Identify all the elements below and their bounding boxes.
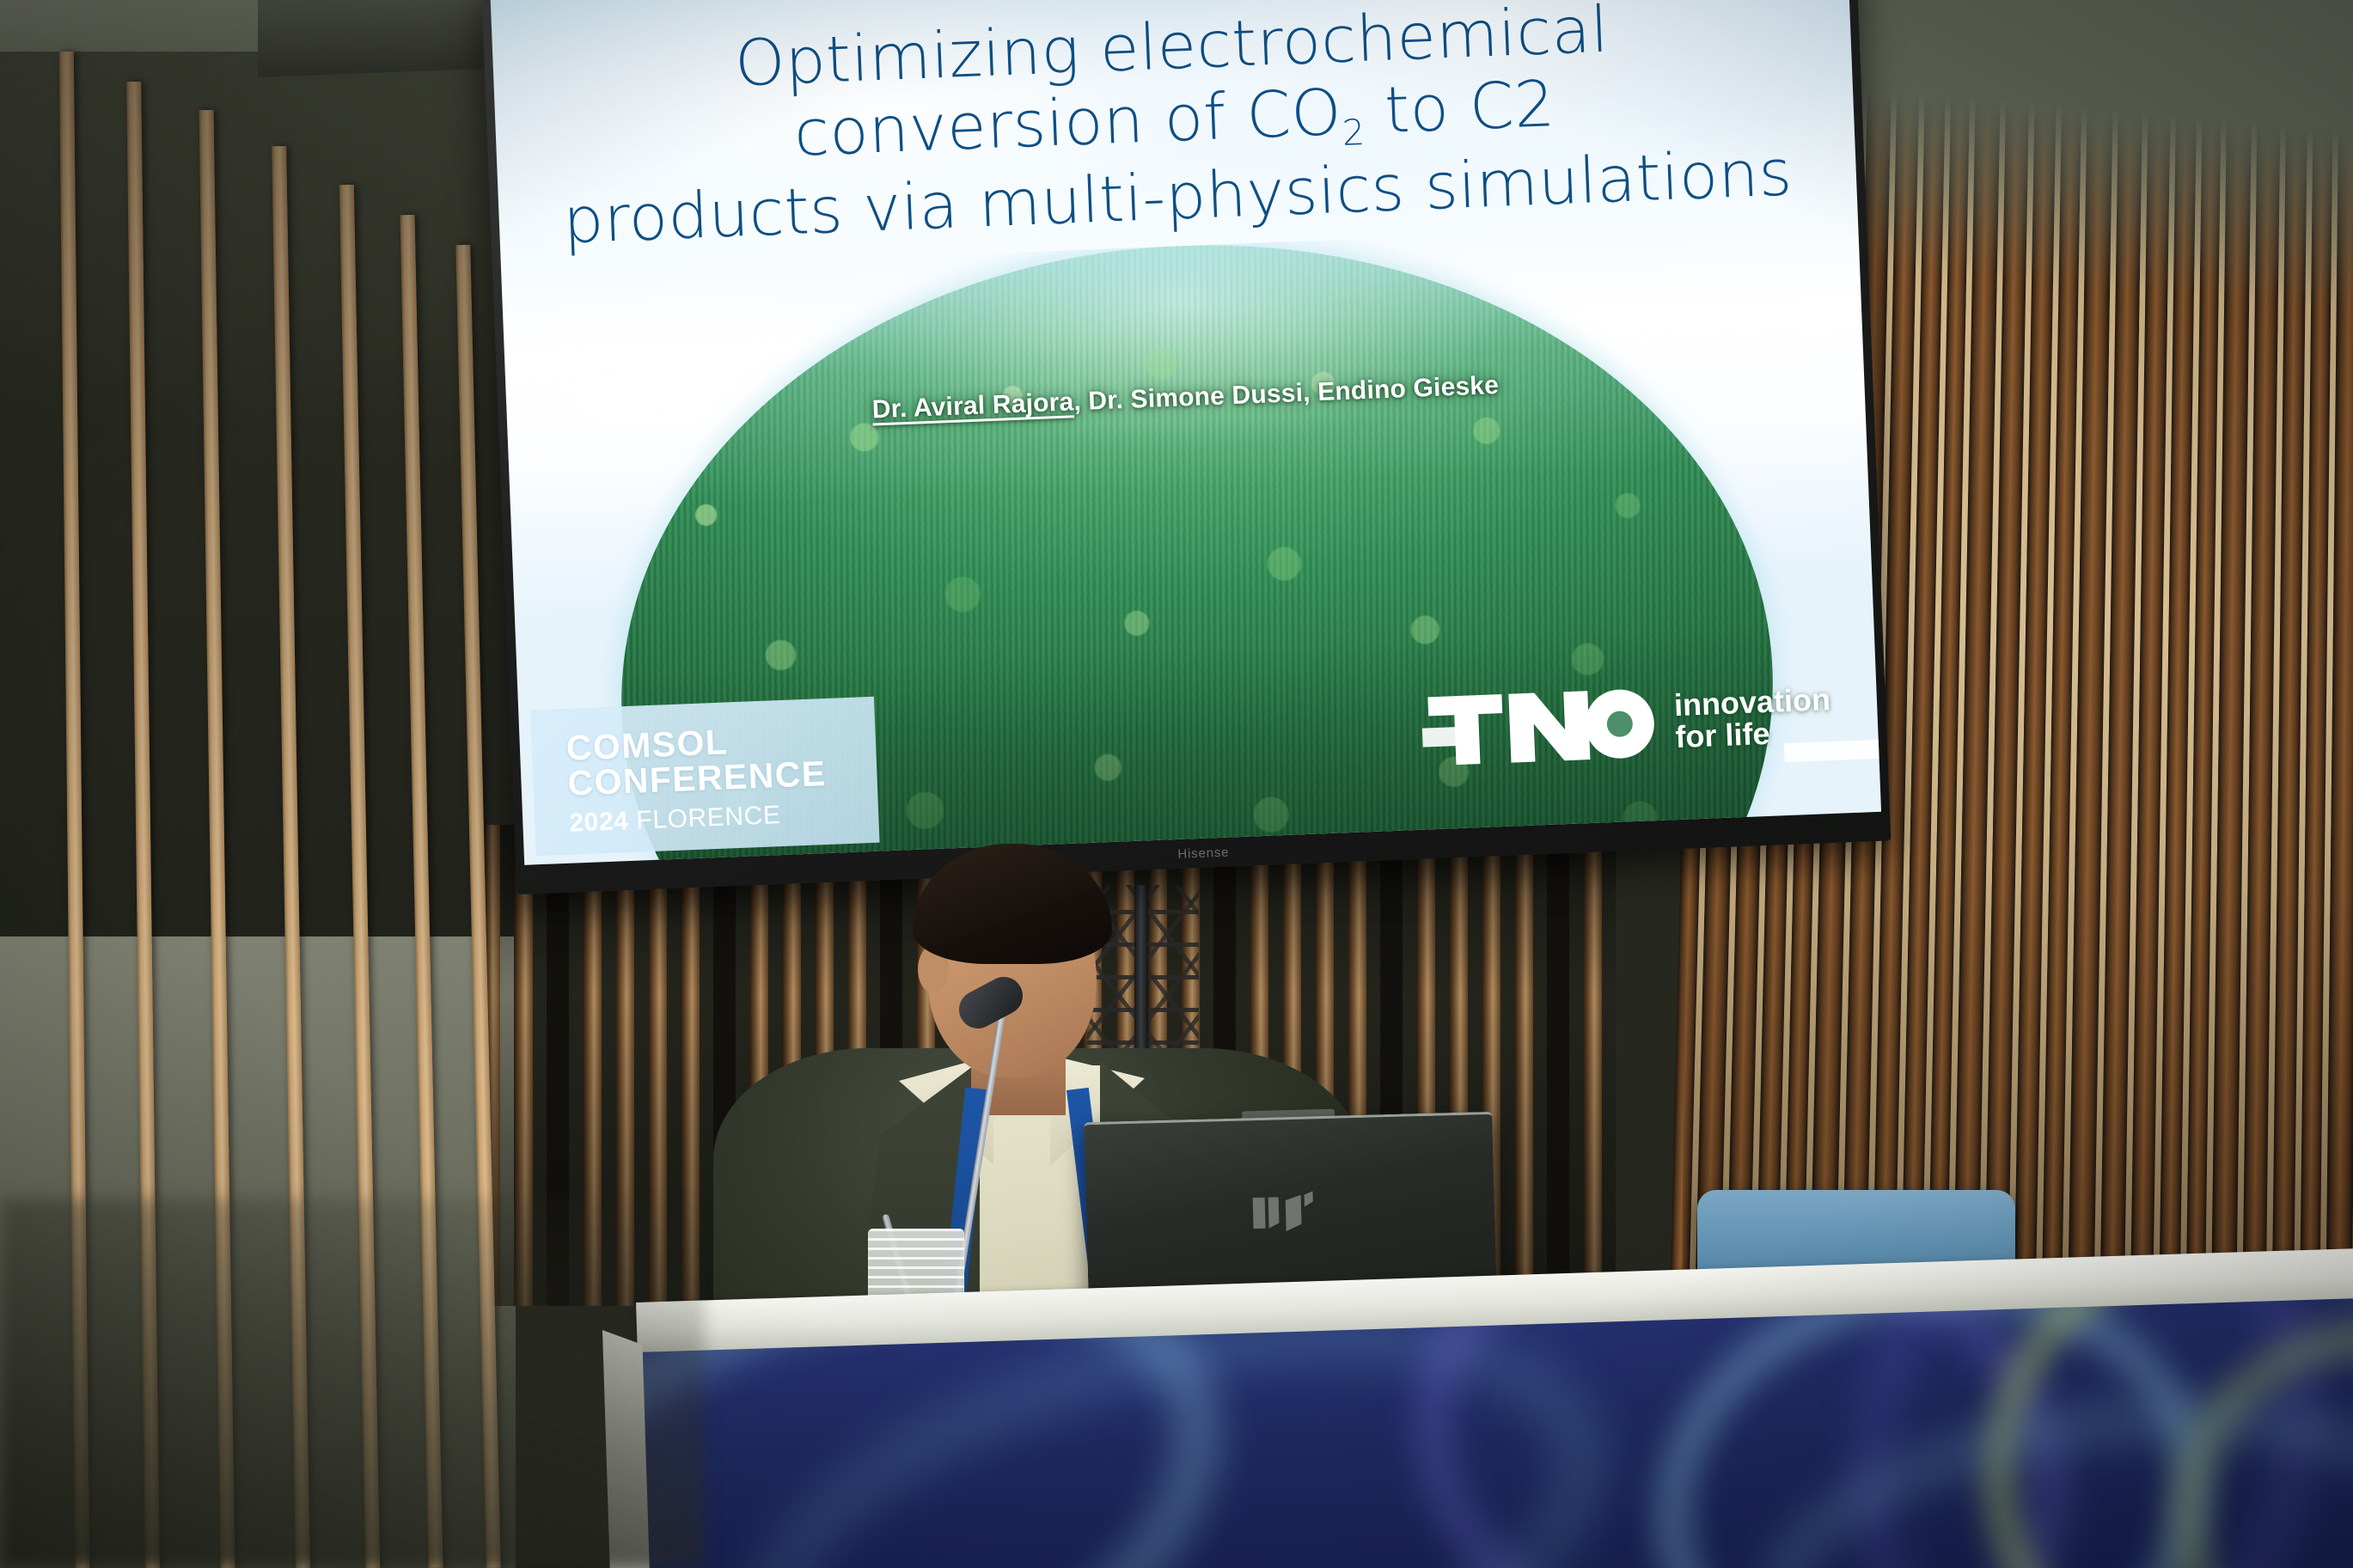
wood-slat — [583, 825, 602, 1306]
conference-year: 2024 — [569, 807, 629, 838]
wall-mounted-television[interactable]: Optimizing electrochemical conversion of… — [481, 0, 1891, 894]
wood-slat — [339, 185, 380, 1568]
comsol-conference-logo: COMSOL CONFERENCE 2024 FLORENCE — [530, 697, 879, 857]
wood-slat — [272, 146, 310, 1568]
tv-bezel: Optimizing electrochemical conversion of… — [481, 0, 1891, 894]
slide-title-subscript: 2 — [1342, 112, 1366, 154]
conference-room-scene: Optimizing electrochemical conversion of… — [0, 0, 2353, 1568]
wood-slat — [648, 825, 667, 1306]
wood-slat — [455, 245, 500, 1568]
presentation-slide: Optimizing electrochemical conversion of… — [490, 0, 1881, 865]
wood-slat — [59, 52, 89, 1568]
tno-logo: innovation for life — [1422, 674, 1832, 773]
conference-city: FLORENCE — [636, 801, 781, 835]
wood-slat — [400, 215, 443, 1568]
tuf-brand-icon — [1249, 1191, 1333, 1246]
slat-gap-shadow — [547, 825, 569, 1306]
left-wood-slat-wall — [0, 0, 516, 1568]
slide-title-part-2: to C2 — [1363, 67, 1556, 149]
tno-tagline-line-2: for life — [1675, 716, 1832, 753]
slat-gap-shadow — [1547, 825, 1569, 1306]
conference-wordmark: CONFERENCE — [567, 754, 877, 802]
conference-year-city: 2024 FLORENCE — [569, 797, 879, 839]
wood-slat — [514, 825, 533, 1306]
presenter-desk — [636, 1246, 2353, 1568]
wood-slat — [1583, 825, 1602, 1306]
tno-wordmark-icon — [1422, 681, 1658, 773]
wood-slat — [615, 825, 634, 1306]
wood-slat — [1514, 825, 1533, 1306]
wood-slat — [126, 82, 160, 1568]
tno-tagline: innovation for life — [1673, 684, 1832, 753]
presenter-hair — [913, 844, 1112, 964]
wood-slat — [681, 825, 700, 1306]
wood-slat — [199, 110, 235, 1568]
